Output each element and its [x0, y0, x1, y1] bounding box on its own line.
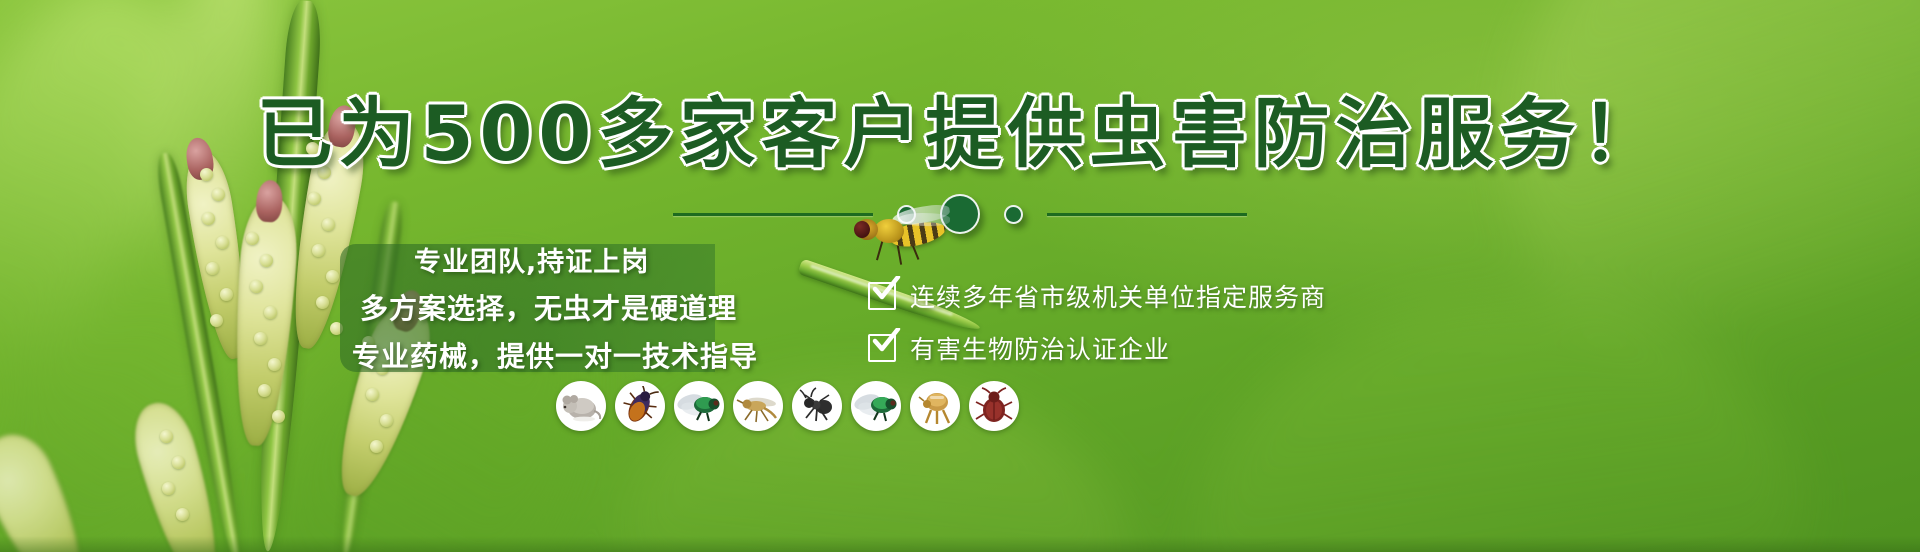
fly-icon — [674, 381, 724, 431]
cockroach-icon — [615, 381, 665, 431]
bullet-item: 连续多年省市级机关单位指定服务商 — [868, 270, 1568, 322]
ant-icon — [792, 381, 842, 431]
bottom-shadow-strip — [0, 536, 1920, 552]
banner-headline: 已为500多家客户提供虫害防治服务！ — [0, 72, 1920, 182]
bullet-label: 有害生物防治认证企业 — [910, 330, 1170, 366]
flea-icon — [910, 381, 960, 431]
mouse-icon — [556, 381, 606, 431]
checkbox-check-icon — [868, 334, 896, 362]
bullet-item: 有害生物防治认证企业 — [868, 322, 1568, 374]
checkbox-check-icon — [868, 282, 896, 310]
fly-green-icon — [851, 381, 901, 431]
pest-icon-row — [556, 378, 1036, 434]
certification-bullets: 连续多年省市级机关单位指定服务商 有害生物防治认证企业 — [868, 270, 1568, 374]
bullet-label: 连续多年省市级机关单位指定服务商 — [910, 278, 1326, 314]
hoverfly-icon — [848, 205, 956, 261]
mosquito-icon — [733, 381, 783, 431]
bedbug-icon — [969, 381, 1019, 431]
promo-banner: 已为500多家客户提供虫害防治服务！ 专业团队,持证上岗 多方案选择，无虫才是硬… — [0, 0, 1920, 552]
